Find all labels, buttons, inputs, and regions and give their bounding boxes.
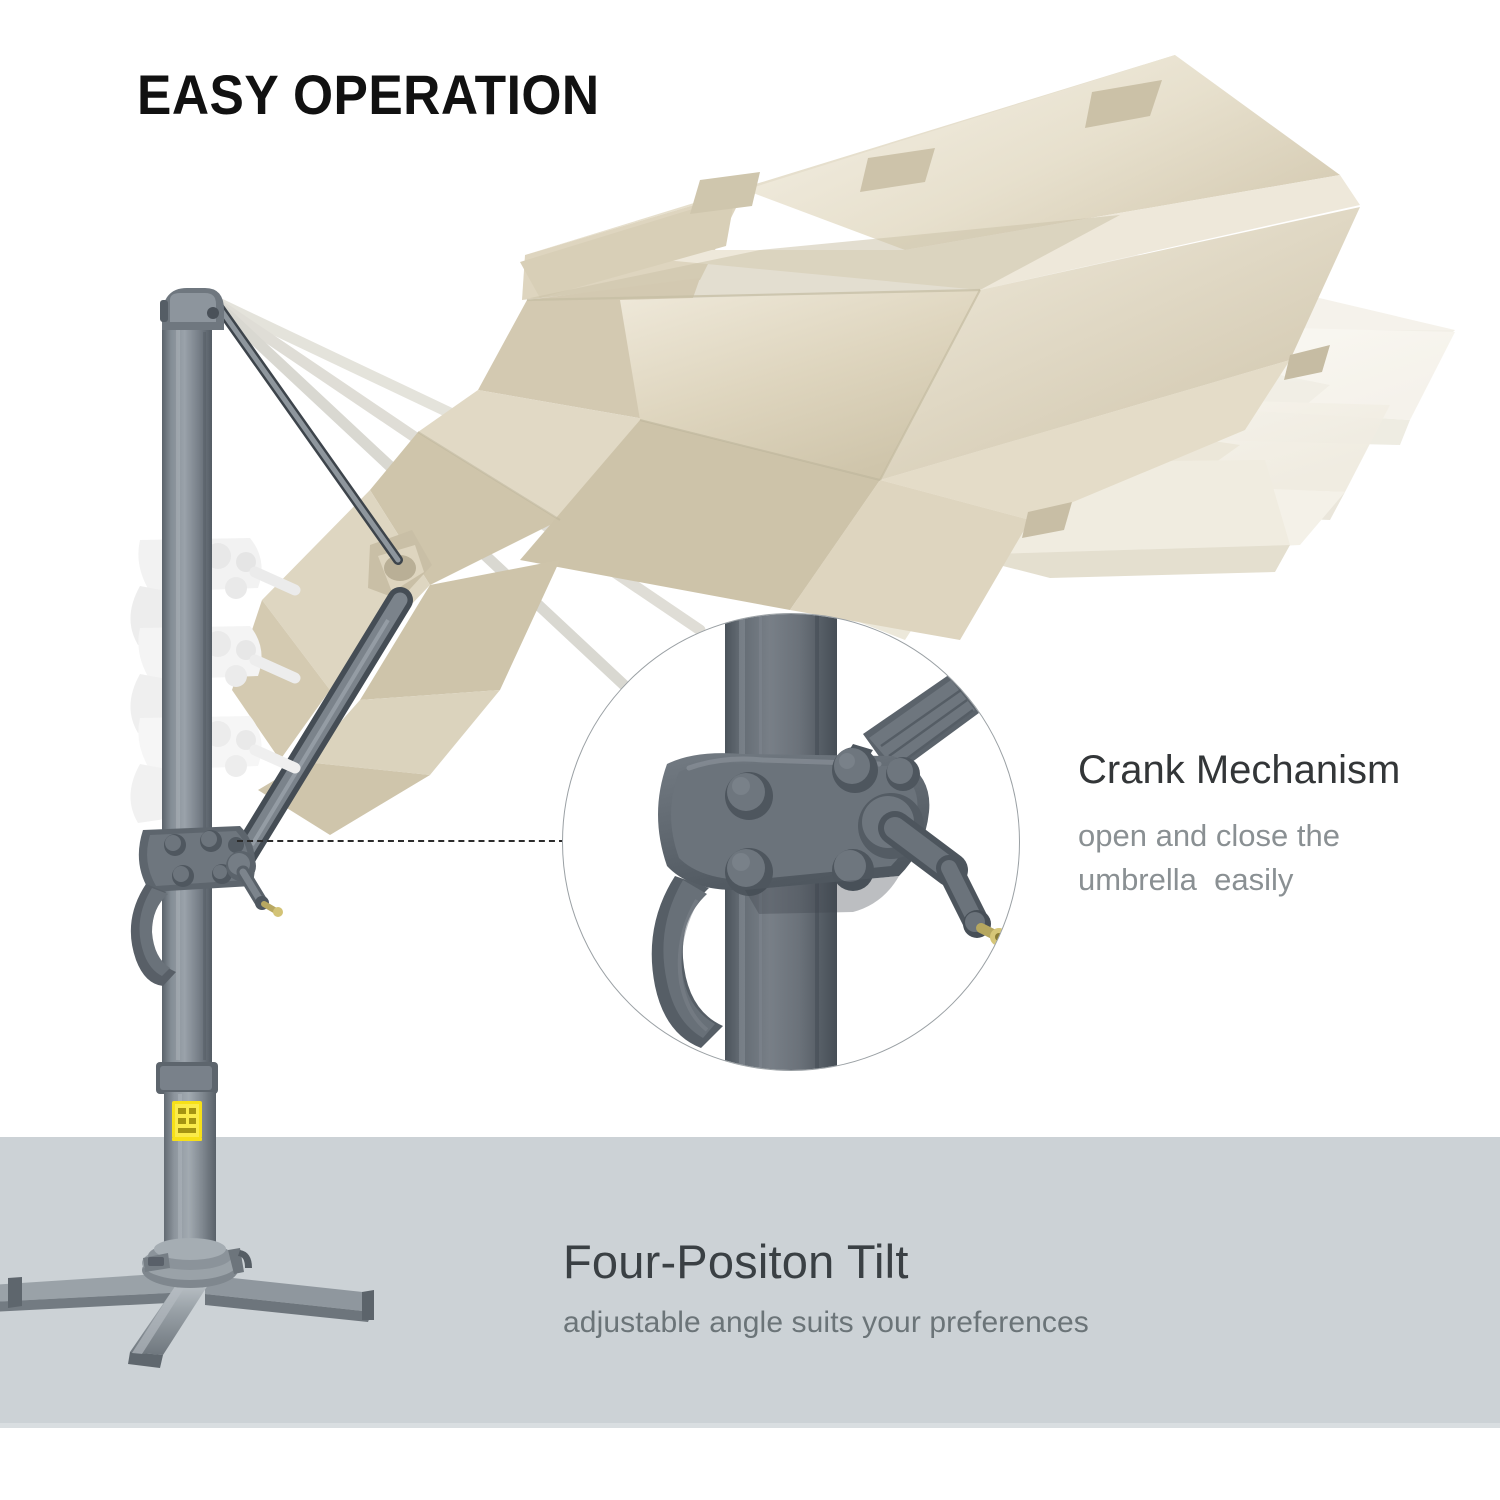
crank-callout-subtitle-line1: open and close the	[1078, 814, 1478, 858]
crank-detail-circle	[562, 613, 1020, 1071]
umbrella-pole	[156, 288, 224, 1262]
ground-band-edge	[0, 1423, 1500, 1428]
ghost-support-struts	[212, 300, 760, 700]
tilt-caption-subtitle: adjustable angle suits your preferences	[563, 1306, 1263, 1340]
tilt-caption: Four-Positon Tilt adjustable angle suits…	[563, 1236, 1263, 1340]
crank-housing-on-pole	[131, 826, 283, 986]
ghost-tilt-housing-top	[130, 538, 295, 645]
crank-callout-subtitle-line2: umbrella easily	[1078, 858, 1478, 902]
leader-line	[237, 840, 565, 842]
page-title: EASY OPERATION	[137, 62, 600, 127]
support-strut	[214, 300, 398, 560]
crank-callout: Crank Mechanism open and close the umbre…	[1078, 748, 1478, 902]
infographic-canvas: EASY OPERATION Crank Mechanism open and …	[0, 0, 1500, 1500]
crank-callout-title: Crank Mechanism	[1078, 748, 1478, 792]
tilt-caption-title: Four-Positon Tilt	[563, 1236, 1263, 1289]
ghost-tilt-housing-low	[130, 716, 295, 823]
canopy-hub	[368, 530, 432, 600]
crank-detail-drawing	[563, 614, 1020, 1071]
ghost-tilt-position-2	[820, 300, 1390, 560]
ghost-tilt-position-3	[905, 225, 1455, 500]
ghost-tilt-housing-mid	[130, 626, 295, 733]
cantilever-arm	[236, 600, 400, 868]
ghost-tilt-position-1	[700, 375, 1290, 640]
crank-callout-subtitle: open and close the umbrella easily	[1078, 814, 1478, 902]
warning-label	[172, 1101, 202, 1141]
hook-handle	[652, 876, 723, 1048]
